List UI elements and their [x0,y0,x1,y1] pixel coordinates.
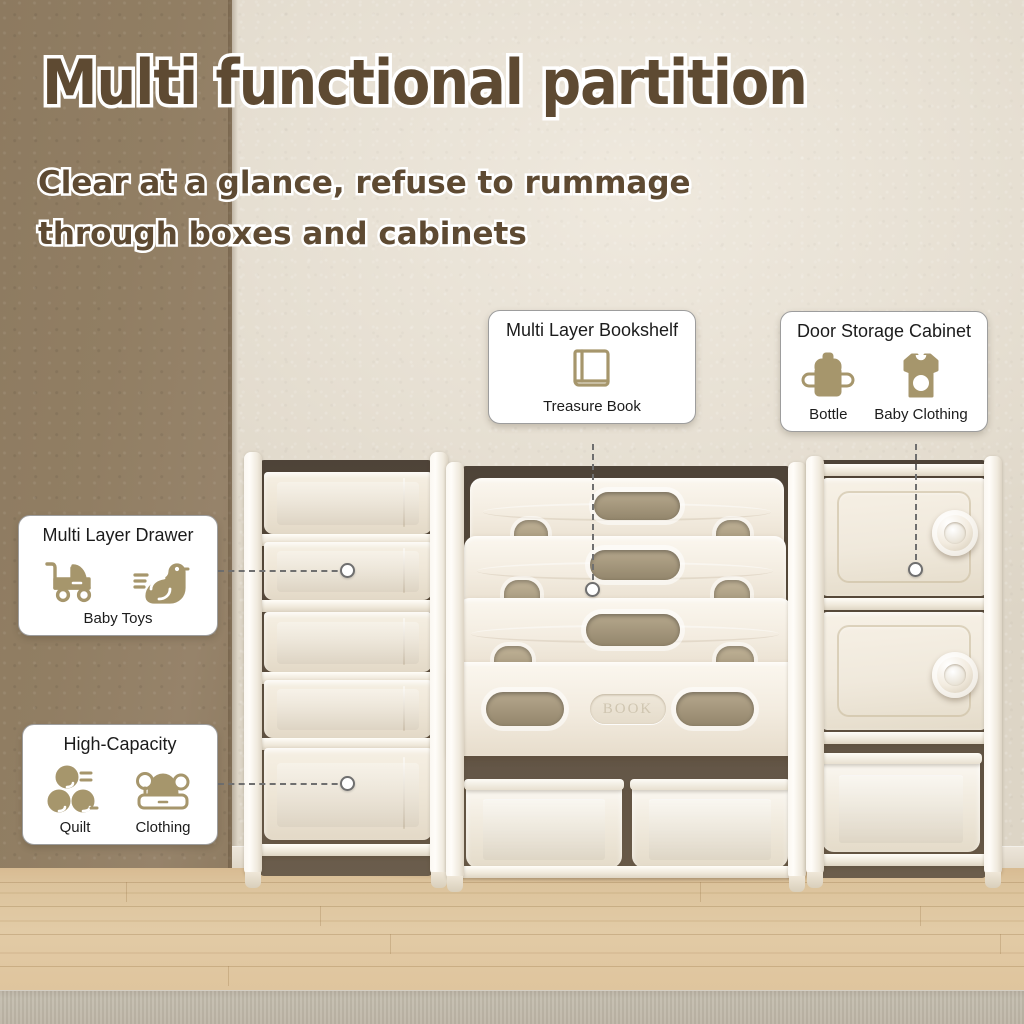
drawer-5-large[interactable] [264,748,432,840]
toy-cart-icon [43,553,105,607]
cabinet-knob-lower[interactable] [932,652,978,698]
connector-bookshelf [592,444,594,590]
connector-dot-cabinet [908,562,923,577]
card-label-quilt: Quilt [60,820,91,837]
rocking-horse-icon [131,553,193,607]
multi-layer-bookshelf-unit: BOOK [446,456,806,880]
card-icon-row [43,553,193,607]
subtitle-line-2: through boxes and cabinets [38,219,527,250]
bookshelf-bin-right[interactable] [632,786,788,868]
folded-clothing-icon [131,762,195,816]
cabinet-post-right [984,456,1002,876]
cabinet-door-upper[interactable] [822,478,986,596]
card-title: Multi Layer Drawer [42,526,193,546]
card-label-bottle: Bottle [809,407,847,424]
book-emboss-label: BOOK [590,694,666,724]
callout-card-high-capacity[interactable]: High-Capacity Quilt [22,724,218,845]
bookshelf-tier-1-front[interactable]: BOOK [450,662,800,756]
room-scene: BOOK [0,0,1024,1024]
area-rug [0,990,1024,1024]
connector-dot-drawer [340,563,355,578]
card-icon-row: Bottle Baby Clothing [800,349,967,424]
cabinet-lower-rail [816,732,990,744]
drawer-rail-5 [256,844,438,856]
bookshelf-bin-left[interactable] [466,786,622,868]
bookshelf-bottom-rail [454,866,798,878]
connector-dot-high-capacity [340,776,355,791]
callout-card-door-storage-cabinet[interactable]: Door Storage Cabinet Bottle [780,311,988,432]
page-title: Multi functional partition [42,52,807,114]
drawer-4[interactable] [264,680,432,738]
baby-clothing-icon [893,349,949,403]
callout-card-multi-layer-bookshelf[interactable]: Multi Layer Bookshelf Treasure Book [488,310,696,424]
connector-cabinet [915,444,917,570]
cabinet-mid-rail [816,598,990,610]
card-title: Multi Layer Bookshelf [506,321,678,341]
callout-card-multi-layer-drawer[interactable]: Multi Layer Drawer [18,515,218,636]
card-label-clothing: Clothing [135,820,190,837]
bookshelf-post-left [446,462,464,880]
card-title: Door Storage Cabinet [797,322,971,342]
connector-drawer [218,570,348,572]
baby-bottle-icon [800,349,856,403]
rolled-quilt-icon [45,762,105,816]
drawer-1[interactable] [264,472,432,534]
drawer-3[interactable] [264,612,432,672]
cabinet-door-lower[interactable] [822,612,986,730]
cabinet-bottom-bin[interactable] [822,760,980,852]
cabinet-top-rail [816,464,990,476]
cabinet-post-left [806,456,824,876]
card-title: High-Capacity [63,735,176,755]
frame-post-left [244,452,262,876]
door-storage-cabinet-unit [800,452,1006,880]
card-label-baby-clothing: Baby Clothing [874,407,967,424]
card-label-treasure-book: Treasure Book [543,399,641,416]
connector-dot-bookshelf [585,582,600,597]
cabinet-knob-upper[interactable] [932,510,978,556]
wall-corner-edge [228,0,238,874]
subtitle-line-1: Clear at a glance, refuse to rummage [38,168,691,199]
book-icon [566,341,618,395]
drawer-rail-2 [256,600,438,612]
card-icon-row: Quilt Clothing [45,762,195,837]
connector-high-capacity [218,783,348,785]
card-label-baby-toys: Baby Toys [84,611,153,628]
multi-layer-drawer-unit [240,452,452,880]
cabinet-bottom-rail [816,854,990,866]
